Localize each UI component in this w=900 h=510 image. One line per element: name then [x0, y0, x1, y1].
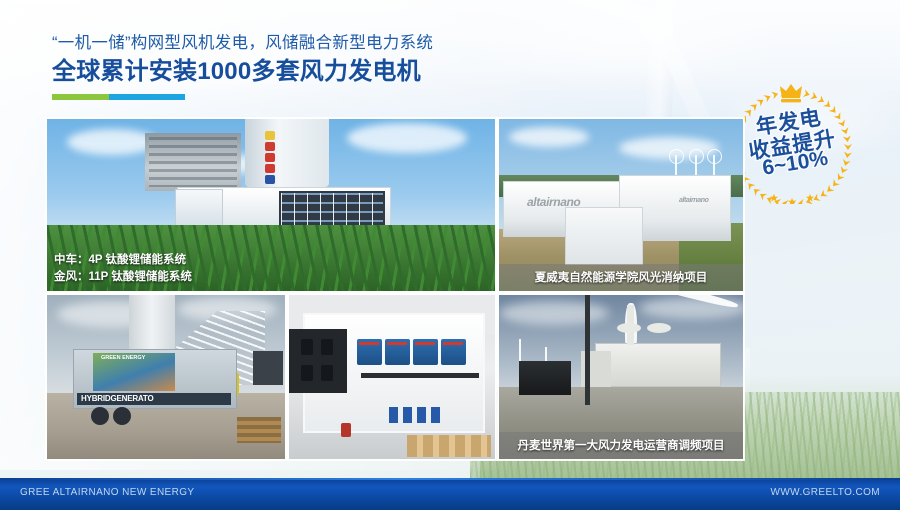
photo1-battery-rack [279, 191, 385, 229]
photo4-inverter-module [441, 339, 466, 365]
photo4-inverter-module [385, 339, 410, 365]
photo4-inverter-module [357, 339, 382, 365]
photo4-inverter-module [413, 339, 438, 365]
photo1-caption-line1: 中车：4P 钛酸锂储能系统 [54, 252, 192, 268]
slide-subtitle: “一机一储”构网型风机发电，风储融合新型电力系统 [52, 34, 433, 54]
photo-hybrid-generator-trailer[interactable]: GREEN ENERGY HYBRIDGENERATO [46, 294, 286, 460]
photo5-white-building [595, 343, 721, 387]
photo4-hook [301, 339, 313, 355]
underline-blue-segment [109, 94, 185, 100]
photo3-green-energy-label: GREEN ENERGY [101, 355, 145, 361]
photo4-pallet [407, 435, 491, 457]
page-title: 全球累计安装1000多套风力发电机 [52, 57, 433, 87]
photo3-wheel [113, 407, 131, 425]
photo3-wooden-crate [237, 417, 281, 443]
underline-green-segment [52, 94, 109, 100]
photo4-blue-connector [403, 407, 412, 423]
photo4-hook [321, 339, 333, 355]
photo1-concrete-structure [145, 133, 241, 191]
slide-header: “一机一储”构网型风机发电，风储融合新型电力系统 全球累计安装1000多套风力发… [52, 34, 433, 100]
photo4-blue-connector [431, 407, 440, 423]
warning-icon [265, 175, 275, 184]
photo3-dark-box [253, 351, 283, 385]
photo1-cloud [67, 129, 157, 155]
photo-denmark-frequency-project[interactable]: 丹麦世界第一大风力发电运营商调频项目 [498, 294, 744, 460]
footer-company-name: GREE ALTAIRNANO NEW ENERGY [20, 487, 195, 498]
photo5-caption: 丹麦世界第一大风力发电运营商调频项目 [499, 432, 743, 459]
warning-icon [265, 131, 275, 140]
photo5-cloud [499, 301, 609, 325]
photo1-warning-signs [265, 131, 275, 179]
footer-website[interactable]: WWW.GREELTO.COM [770, 487, 880, 498]
photo-altairnano-containers[interactable]: altairnano altairnano 夏威夷自然能源学院风光消纳项目 [498, 118, 744, 292]
photo1-caption-line2: 金风：11P 钛酸锂储能系统 [54, 269, 192, 285]
photo5-roof-dish [647, 323, 671, 333]
photo5-black-container [519, 361, 571, 395]
photo4-hook [301, 365, 313, 381]
warning-icon [265, 153, 275, 162]
photo3-wheel [91, 407, 109, 425]
photo5-roof-dish [617, 323, 641, 333]
photo5-utility-pole [585, 295, 590, 405]
photo1-turbine-tower [245, 118, 329, 187]
presentation-slide: “一机一储”构网型风机发电，风储融合新型电力系统 全球累计安装1000多套风力发… [0, 0, 900, 510]
title-underline [52, 94, 185, 100]
photo4-dark-panel [289, 329, 347, 393]
photo2-brand-label-small: altairnano [679, 197, 708, 204]
warning-icon [265, 142, 275, 151]
photo-inverter-cabinet-interior[interactable] [288, 294, 496, 460]
photo-wind-base-storage[interactable]: 中车：4P 钛酸锂储能系统 金风：11P 钛酸锂储能系统 [46, 118, 496, 292]
photo4-blue-connector [389, 407, 398, 423]
photo4-hook [321, 365, 333, 381]
photo4-cable-rail [361, 373, 479, 378]
photo-grid: 中车：4P 钛酸锂储能系统 金风：11P 钛酸锂储能系统 altairnano … [46, 118, 742, 458]
photo2-cloud [509, 127, 589, 147]
photo3-hybrid-generator-label: HYBRIDGENERATO [81, 394, 153, 403]
photo2-caption: 夏威夷自然能源学院风光消纳项目 [499, 264, 743, 291]
photo4-red-connector [341, 423, 351, 437]
photo4-blue-connector [417, 407, 426, 423]
photo1-caption: 中车：4P 钛酸锂储能系统 金风：11P 钛酸锂储能系统 [54, 252, 192, 285]
photo3-turbine-tower [129, 295, 175, 357]
warning-icon [265, 164, 275, 173]
photo2-front-unit [565, 207, 643, 265]
slide-footer: GREE ALTAIRNANO NEW ENERGY WWW.GREELTO.C… [0, 478, 900, 510]
photo1-cloud [347, 123, 467, 153]
